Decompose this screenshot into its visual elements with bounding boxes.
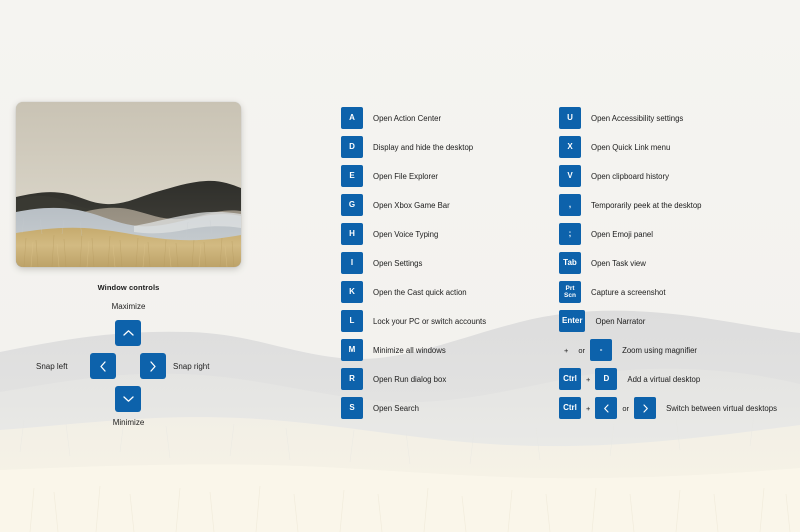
- shortcut-key-group: Ctrl+or: [559, 397, 656, 419]
- shortcut-description: Lock your PC or switch accounts: [373, 317, 486, 326]
- shortcut-description: Open Run dialog box: [373, 375, 446, 384]
- shortcut-row: KOpen the Cast quick action: [341, 281, 486, 303]
- shortcut-description: Open Search: [373, 404, 419, 413]
- shortcut-row: LLock your PC or switch accounts: [341, 310, 486, 332]
- shortcut-key-group: X: [559, 136, 581, 158]
- key-label: G: [349, 201, 355, 209]
- key-ctrl[interactable]: Ctrl: [559, 368, 581, 390]
- key-label: ,: [569, 201, 571, 209]
- chevron-left-icon: [603, 404, 610, 413]
- chevron-up-icon: [123, 329, 134, 337]
- shortcut-row: ROpen Run dialog box: [341, 368, 486, 390]
- key-label: Ctrl: [563, 375, 577, 383]
- key-label: L: [350, 317, 355, 325]
- key-label: I: [351, 259, 353, 267]
- shortcut-key-group: +or-: [559, 339, 612, 361]
- shortcut-row: Ctrl+orSwitch between virtual desktops: [559, 397, 777, 419]
- shortcut-row: DDisplay and hide the desktop: [341, 136, 486, 158]
- shortcut-row: +or-Zoom using magnifier: [559, 339, 777, 361]
- key-u[interactable]: U: [559, 107, 581, 129]
- shortcut-row: SOpen Search: [341, 397, 486, 419]
- minimize-key[interactable]: [115, 386, 141, 412]
- shortcut-key-group: S: [341, 397, 363, 419]
- shortcut-key-group: PrtScn: [559, 281, 581, 303]
- chevron-right-icon: [149, 361, 157, 372]
- shortcut-row: HOpen Voice Typing: [341, 223, 486, 245]
- key-prt-scn[interactable]: PrtScn: [559, 281, 581, 303]
- shortcut-row: MMinimize all windows: [341, 339, 486, 361]
- plus-separator: +: [559, 346, 573, 355]
- key-v[interactable]: V: [559, 165, 581, 187]
- shortcut-key-group: H: [341, 223, 363, 245]
- key-label: Ctrl: [563, 404, 577, 412]
- window-controls-dpad: Maximize: [16, 302, 241, 430]
- shortcut-row: EOpen File Explorer: [341, 165, 486, 187]
- key-label: X: [567, 143, 572, 151]
- shortcut-description: Open Narrator: [595, 317, 645, 326]
- key-label: Enter: [562, 317, 582, 325]
- shortcut-key-group: Ctrl+D: [559, 368, 617, 390]
- shortcut-key-group: Enter: [559, 310, 585, 332]
- shortcut-key-group: A: [341, 107, 363, 129]
- shortcut-key-group: ,: [559, 194, 581, 216]
- key-label: M: [349, 346, 356, 354]
- or-separator: or: [617, 404, 634, 413]
- shortcut-description: Open Action Center: [373, 114, 441, 123]
- chevron-down-icon: [123, 395, 134, 403]
- shortcut-row: PrtScnCapture a screenshot: [559, 281, 777, 303]
- key-label: D: [604, 375, 610, 383]
- shortcut-description: Open Task view: [591, 259, 646, 268]
- shortcut-key-group: ;: [559, 223, 581, 245]
- shortcut-description: Minimize all windows: [373, 346, 446, 355]
- shortcut-list-right: UOpen Accessibility settingsXOpen Quick …: [559, 107, 777, 426]
- shortcut-description: Open the Cast quick action: [373, 288, 467, 297]
- shortcut-row: Ctrl+DAdd a virtual desktop: [559, 368, 777, 390]
- key-sym[interactable]: ;: [559, 223, 581, 245]
- key-label: D: [349, 143, 355, 151]
- key-label: V: [567, 172, 572, 180]
- wallpaper-preview-panel: [16, 102, 241, 267]
- shortcut-key-group: G: [341, 194, 363, 216]
- key-label: H: [349, 230, 355, 238]
- shortcut-key-group: I: [341, 252, 363, 274]
- shortcut-row: IOpen Settings: [341, 252, 486, 274]
- key-label: A: [349, 114, 355, 122]
- key-label: E: [349, 172, 354, 180]
- shortcut-key-group: D: [341, 136, 363, 158]
- chevron-right-icon[interactable]: [634, 397, 656, 419]
- key-label: Scn: [564, 292, 576, 299]
- shortcut-key-group: E: [341, 165, 363, 187]
- shortcut-key-group: V: [559, 165, 581, 187]
- key-label: U: [567, 114, 573, 122]
- wallpaper-thumbnail[interactable]: [16, 102, 241, 267]
- key-g[interactable]: G: [341, 194, 363, 216]
- shortcut-row: TabOpen Task view: [559, 252, 777, 274]
- shortcut-description: Open Voice Typing: [373, 230, 438, 239]
- shortcut-key-group: L: [341, 310, 363, 332]
- shortcut-description: Open File Explorer: [373, 172, 438, 181]
- key-label: ;: [569, 230, 572, 238]
- key-l[interactable]: L: [341, 310, 363, 332]
- shortcut-list-left: AOpen Action CenterDDisplay and hide the…: [341, 107, 486, 426]
- snap-left-label: Snap left: [36, 362, 68, 371]
- window-controls-heading: Window controls: [16, 283, 241, 292]
- shortcut-row: ;Open Emoji panel: [559, 223, 777, 245]
- shortcut-description: Add a virtual desktop: [627, 375, 700, 384]
- key-label: Tab: [563, 259, 577, 267]
- key-ctrl[interactable]: Ctrl: [559, 397, 581, 419]
- key-x[interactable]: X: [559, 136, 581, 158]
- key-label: K: [349, 288, 355, 296]
- shortcut-row: GOpen Xbox Game Bar: [341, 194, 486, 216]
- maximize-label: Maximize: [16, 302, 241, 311]
- key-label: Prt: [565, 285, 574, 292]
- minimize-label: Minimize: [16, 418, 241, 427]
- shortcut-row: ,Temporarily peek at the desktop: [559, 194, 777, 216]
- key-a[interactable]: A: [341, 107, 363, 129]
- shortcut-row: EnterOpen Narrator: [559, 310, 777, 332]
- shortcut-row: VOpen clipboard history: [559, 165, 777, 187]
- shortcut-row: AOpen Action Center: [341, 107, 486, 129]
- key-label: S: [349, 404, 354, 412]
- key-sym[interactable]: ,: [559, 194, 581, 216]
- shortcut-description: Open Xbox Game Bar: [373, 201, 450, 210]
- window-controls-section: Window controls Maximize: [16, 283, 241, 430]
- shortcut-description: Capture a screenshot: [591, 288, 666, 297]
- key-sym[interactable]: -: [590, 339, 612, 361]
- key-r[interactable]: R: [341, 368, 363, 390]
- chevron-left-icon: [99, 361, 107, 372]
- shortcut-row: UOpen Accessibility settings: [559, 107, 777, 129]
- key-label: R: [349, 375, 355, 383]
- shortcut-key-group: K: [341, 281, 363, 303]
- key-m[interactable]: M: [341, 339, 363, 361]
- shortcut-description: Switch between virtual desktops: [666, 404, 777, 413]
- key-i[interactable]: I: [341, 252, 363, 274]
- shortcut-key-group: U: [559, 107, 581, 129]
- chevron-left-icon[interactable]: [595, 397, 617, 419]
- shortcut-row: XOpen Quick Link menu: [559, 136, 777, 158]
- snap-right-key[interactable]: [140, 353, 166, 379]
- key-k[interactable]: K: [341, 281, 363, 303]
- shortcut-description: Temporarily peek at the desktop: [591, 201, 702, 210]
- shortcut-key-group: Tab: [559, 252, 581, 274]
- shortcut-key-group: R: [341, 368, 363, 390]
- shortcut-description: Open Quick Link menu: [591, 143, 670, 152]
- key-label: -: [600, 346, 603, 354]
- snap-right-label: Snap right: [173, 362, 209, 371]
- shortcut-key-group: M: [341, 339, 363, 361]
- shortcut-description: Open clipboard history: [591, 172, 669, 181]
- shortcut-description: Zoom using magnifier: [622, 346, 697, 355]
- key-e[interactable]: E: [341, 165, 363, 187]
- maximize-key[interactable]: [115, 320, 141, 346]
- shortcut-description: Open Emoji panel: [591, 230, 653, 239]
- key-d[interactable]: D: [595, 368, 617, 390]
- key-d[interactable]: D: [341, 136, 363, 158]
- key-h[interactable]: H: [341, 223, 363, 245]
- key-s[interactable]: S: [341, 397, 363, 419]
- shortcut-description: Display and hide the desktop: [373, 143, 473, 152]
- or-separator: or: [573, 346, 590, 355]
- plus-separator: +: [581, 375, 595, 384]
- key-tab[interactable]: Tab: [559, 252, 581, 274]
- key-enter[interactable]: Enter: [559, 310, 585, 332]
- chevron-right-icon: [642, 404, 649, 413]
- shortcut-description: Open Settings: [373, 259, 422, 268]
- plus-separator: +: [581, 404, 595, 413]
- shortcut-description: Open Accessibility settings: [591, 114, 683, 123]
- snap-left-key[interactable]: [90, 353, 116, 379]
